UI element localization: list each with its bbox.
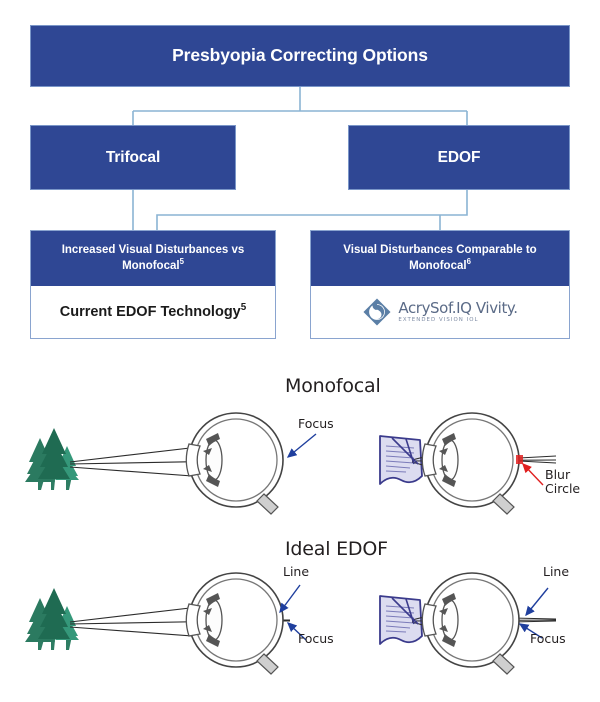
pine-tree-icon <box>25 588 79 650</box>
flow-leaf-trifocal-body-sup: 5 <box>241 302 246 313</box>
eye-cross-section <box>422 413 519 514</box>
flow-leaf-trifocal-header-text: Increased Visual Disturbances vs Monofoc… <box>62 244 245 272</box>
flow-box-root[interactable]: Presbyopia Correcting Options <box>30 25 570 87</box>
eye-cross-section <box>422 573 519 674</box>
blur-circle-arrow <box>523 464 543 485</box>
flow-leaf-trifocal-header: Increased Visual Disturbances vs Monofoc… <box>31 231 275 286</box>
label-edof-left-line: Line <box>283 565 309 579</box>
vivity-logo-primary: AcrySof.IQ Vivity. <box>398 301 517 316</box>
flow-leaf-edof-header: Visual Disturbances Comparable to Monofo… <box>311 231 569 286</box>
document-page-icon <box>380 596 422 644</box>
flow-leaf-trifocal-header-sup: 5 <box>180 257 184 266</box>
blur-circle-marker <box>516 455 523 464</box>
line-arrow <box>280 585 300 612</box>
edof-left-scene <box>25 573 306 674</box>
label-monofocal-blur-circle: Blur Circle <box>545 468 580 496</box>
eye-diagram-graphics <box>0 360 600 702</box>
connector-edof-bracket-left <box>157 190 467 230</box>
line-arrow <box>526 588 548 615</box>
label-edof-right-line: Line <box>543 565 569 579</box>
vivity-logo-text: AcrySof.IQ Vivity. EXTENDED VISION IOL <box>398 301 517 323</box>
document-page-icon <box>380 436 422 484</box>
flow-leaf-trifocal-body-text: Current EDOF Technology <box>60 304 241 320</box>
edof-right-scene <box>380 573 556 674</box>
label-edof-right-focus: Focus <box>530 632 566 646</box>
presbyopia-flowchart: Presbyopia Correcting Options Trifocal E… <box>0 0 600 360</box>
focus-arrow <box>288 434 316 457</box>
label-edof-left-focus: Focus <box>298 632 334 646</box>
vivity-diamond-icon <box>362 297 392 327</box>
flow-leaf-edof-header-text: Visual Disturbances Comparable to Monofo… <box>343 244 536 272</box>
eye-cross-section <box>186 573 283 674</box>
flow-leaf-edof-header-sup: 6 <box>467 257 471 266</box>
monofocal-right-scene <box>380 413 556 514</box>
row-title-monofocal: Monofocal <box>285 375 381 397</box>
label-monofocal-focus: Focus <box>298 417 334 431</box>
flow-box-trifocal-label: Trifocal <box>106 148 160 167</box>
eye-optics-diagram: Monofocal Ideal EDOF Focus Blur Circle L… <box>0 360 600 702</box>
flow-box-edof-label: EDOF <box>438 148 481 167</box>
flow-leaf-edof-body: AcrySof.IQ Vivity. EXTENDED VISION IOL <box>311 286 569 338</box>
flow-leaf-edof[interactable]: Visual Disturbances Comparable to Monofo… <box>310 230 570 339</box>
eye-cross-section <box>186 413 283 514</box>
flow-leaf-trifocal-body: Current EDOF Technology5 <box>31 286 275 338</box>
vivity-logo-secondary: EXTENDED VISION IOL <box>398 318 517 323</box>
flow-box-trifocal[interactable]: Trifocal <box>30 125 236 190</box>
pine-tree-icon <box>25 428 79 490</box>
acrysof-iq-vivity-logo: AcrySof.IQ Vivity. EXTENDED VISION IOL <box>362 297 517 327</box>
monofocal-left-scene <box>25 413 316 514</box>
row-title-ideal-edof: Ideal EDOF <box>285 538 388 560</box>
flow-box-root-label: Presbyopia Correcting Options <box>172 45 428 67</box>
flow-leaf-trifocal[interactable]: Increased Visual Disturbances vs Monofoc… <box>30 230 276 339</box>
flow-box-edof[interactable]: EDOF <box>348 125 570 190</box>
